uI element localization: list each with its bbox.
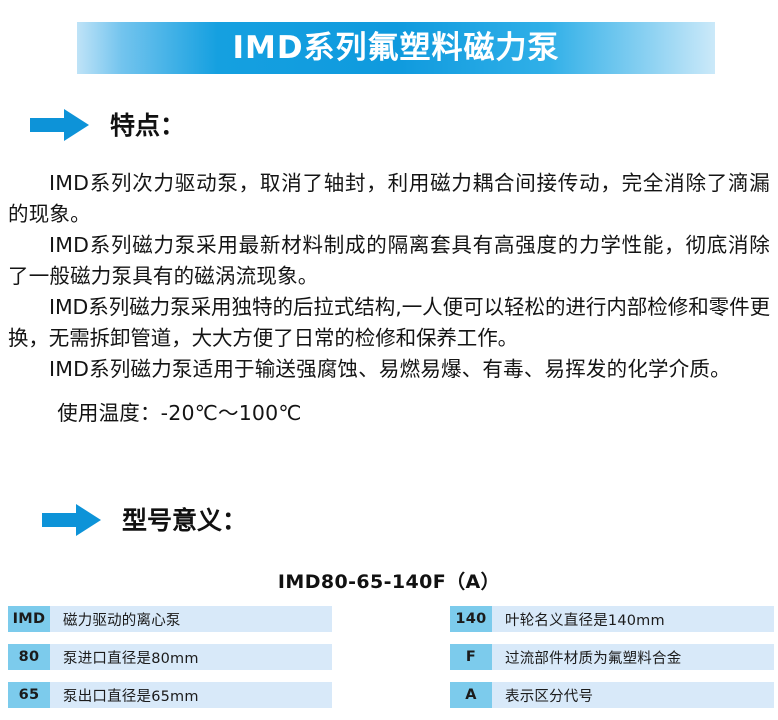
legend-key: A (450, 682, 492, 708)
legend-key: F (450, 644, 492, 670)
legend-key: 65 (8, 682, 50, 708)
legend-row: F 过流部件材质为氟塑料合金 (450, 644, 774, 670)
legend-key: IMD (8, 606, 50, 632)
feature-paragraph-4: IMD系列磁力泵适用于输送强腐蚀、易燃易爆、有毒、易挥发的化学介质。 (8, 354, 770, 385)
feature-paragraph-1: IMD系列次力驱动泵，取消了轴封，利用磁力耦合间接传动，完全消除了滴漏的现象。 (8, 168, 770, 230)
legend-description: 过流部件材质为氟塑料合金 (492, 644, 774, 670)
operating-temperature-line: 使用温度：-20℃～100℃ (8, 398, 770, 429)
legend-row: 140 叶轮名义直径是140mm (450, 606, 774, 632)
legend-row: A 表示区分代号 (450, 682, 774, 708)
legend-description: 叶轮名义直径是140mm (492, 606, 774, 632)
feature-paragraph-2: IMD系列磁力泵采用最新材料制成的隔离套具有高强度的力学性能，彻底消除了一般磁力… (8, 230, 770, 292)
model-code-legend: IMD 磁力驱动的离心泵 80 泵进口直径是80mm 65 泵出口直径是65mm… (0, 606, 778, 716)
title-banner-gradient: IMD系列氟塑料磁力泵 (77, 22, 715, 74)
section-label-model-meaning: 型号意义： (122, 508, 247, 533)
legend-description: 磁力驱动的离心泵 (50, 606, 332, 632)
section-heading-features: 特点： (30, 108, 185, 142)
legend-description: 泵出口直径是65mm (50, 682, 332, 708)
legend-key: 80 (8, 644, 50, 670)
legend-column-right: 140 叶轮名义直径是140mm F 过流部件材质为氟塑料合金 A 表示区分代号 (450, 606, 774, 720)
page-title: IMD系列氟塑料磁力泵 (232, 33, 559, 64)
legend-key: 140 (450, 606, 492, 632)
model-code: IMD80-65-140F（A） (0, 567, 778, 594)
section-heading-model-meaning: 型号意义： (42, 503, 247, 537)
legend-description: 泵进口直径是80mm (50, 644, 332, 670)
right-arrow-icon (30, 108, 90, 142)
title-banner: IMD系列氟塑料磁力泵 (77, 22, 715, 74)
right-arrow-icon (42, 503, 102, 537)
legend-row: 65 泵出口直径是65mm (8, 682, 332, 708)
legend-row: 80 泵进口直径是80mm (8, 644, 332, 670)
legend-row: IMD 磁力驱动的离心泵 (8, 606, 332, 632)
feature-paragraph-3: IMD系列磁力泵采用独特的后拉式结构,一人便可以轻松的进行内部检修和零件更换，无… (8, 292, 770, 354)
section-label-features: 特点： (110, 113, 185, 138)
features-body: IMD系列次力驱动泵，取消了轴封，利用磁力耦合间接传动，完全消除了滴漏的现象。 … (8, 168, 770, 429)
legend-description: 表示区分代号 (492, 682, 774, 708)
legend-column-left: IMD 磁力驱动的离心泵 80 泵进口直径是80mm 65 泵出口直径是65mm (8, 606, 332, 720)
